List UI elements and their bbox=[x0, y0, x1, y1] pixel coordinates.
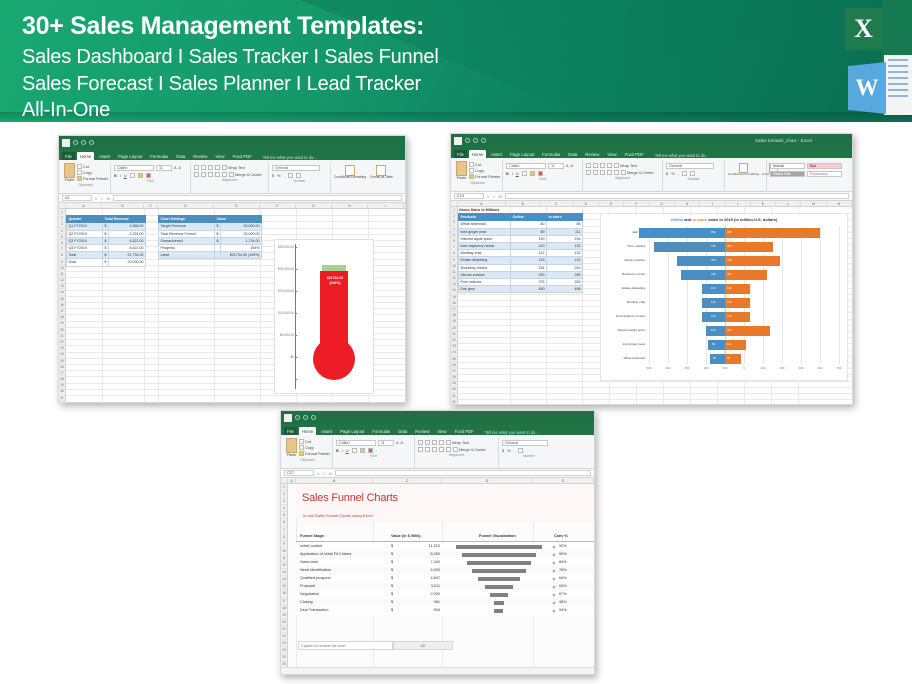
align-center-icon[interactable] bbox=[593, 170, 598, 175]
table-row[interactable]: Estate darjeeling 123 132 bbox=[459, 257, 583, 264]
table-row[interactable]: Application of Initial Fit Criteria $ 8,… bbox=[296, 551, 594, 559]
tab-insert[interactable]: Insert bbox=[488, 150, 505, 158]
paste-icon[interactable] bbox=[456, 161, 467, 176]
cell-value[interactable]: 6,522.00 bbox=[109, 237, 146, 244]
cell-stage[interactable]: Closing bbox=[300, 600, 313, 604]
paste-label[interactable]: Paste bbox=[287, 453, 297, 457]
rows-area-2[interactable]: 1 2 3 4 5 6 7 8 9 10 11 12 13 14 15 16 1 bbox=[451, 207, 852, 405]
fill-color-icon[interactable] bbox=[530, 171, 535, 176]
save-icon[interactable] bbox=[62, 139, 70, 147]
cell-setting[interactable]: Progress bbox=[159, 245, 215, 252]
wrap-text-button[interactable]: Wrap Text bbox=[222, 165, 245, 170]
table-row[interactable]: Q4 FY2019 $ 8,422.00 bbox=[67, 245, 146, 252]
cell-product[interactable]: Bombay chai bbox=[459, 250, 511, 257]
cell-value[interactable]: 4,847 bbox=[404, 576, 440, 580]
cell-value[interactable]: 4,566.00 bbox=[109, 223, 146, 230]
cell-style-check-cell[interactable]: Check Cell bbox=[770, 171, 805, 177]
sheet-tab-bar-3[interactable] bbox=[281, 667, 594, 674]
ribbon-1[interactable]: Paste Cut Copy Format Painter Clipboard … bbox=[59, 160, 405, 194]
tab-foxit-pdf[interactable]: Foxit PDF bbox=[622, 150, 647, 158]
col-G[interactable]: G bbox=[650, 201, 675, 206]
underline-button[interactable]: U bbox=[516, 172, 519, 176]
align-right-icon[interactable] bbox=[432, 447, 437, 452]
font-name-select[interactable]: Calibri bbox=[114, 165, 154, 171]
paste-label[interactable]: Paste bbox=[65, 178, 75, 182]
table-row[interactable]: Need identification $ 6,200 78% bbox=[296, 567, 594, 575]
table-row[interactable]: Bombay chai 122 132 bbox=[459, 250, 583, 257]
tab-data[interactable]: Data bbox=[395, 427, 410, 435]
cell-product[interactable]: Earl grey bbox=[459, 286, 511, 293]
cell-product[interactable]: White ambrosia bbox=[459, 221, 511, 228]
table-row[interactable]: African solstice 250 290 bbox=[459, 271, 583, 278]
cell-online[interactable]: 100 bbox=[511, 235, 547, 242]
tab-formulas[interactable]: Formulas bbox=[147, 152, 171, 160]
col-A[interactable]: A bbox=[66, 203, 102, 208]
cell-currency[interactable]: $ bbox=[391, 608, 393, 612]
cell-style-normal[interactable]: Normal bbox=[770, 163, 805, 169]
cells-1[interactable]: Quarter Total Revenue Q1 FY2019 $ 4,566.… bbox=[66, 209, 405, 403]
cell-currency[interactable]: $ bbox=[391, 560, 393, 564]
cell-value[interactable]: 109% bbox=[221, 245, 262, 252]
format-painter-button[interactable]: Format Painter bbox=[77, 176, 108, 181]
merge-center-button[interactable]: Merge & Center bbox=[229, 172, 262, 177]
cell-instore[interactable]: 111 bbox=[547, 228, 583, 235]
col-M[interactable]: M bbox=[801, 201, 826, 206]
formula-input-1[interactable] bbox=[113, 195, 402, 201]
formula-bar-row-3[interactable]: C27 × ✓ fx bbox=[281, 469, 594, 478]
decrease-indent-icon[interactable] bbox=[215, 172, 220, 177]
row-headers-1[interactable]: 1 2 3 4 5 6 7 8 9 10 11 12 13 14 15 16 1 bbox=[59, 209, 66, 403]
rows-area-1[interactable]: 1 2 3 4 5 6 7 8 9 10 11 12 13 14 15 16 1 bbox=[59, 209, 405, 403]
table-row[interactable]: Q3 FY2019 $ 6,522.00 bbox=[67, 237, 146, 244]
insert-function-icon[interactable]: fx bbox=[107, 196, 110, 201]
formula-bar-row-2[interactable]: C13 × ✓ fx bbox=[451, 192, 852, 201]
name-box-1[interactable]: A1 bbox=[62, 195, 92, 201]
increase-indent-icon[interactable] bbox=[222, 172, 227, 177]
table-row[interactable]: Iced raspberry nectar 120 130 bbox=[459, 243, 583, 250]
table-row[interactable]: Q2 FY2019 $ 2,224.00 bbox=[67, 230, 146, 237]
cell-stage[interactable]: Sales lead bbox=[300, 560, 318, 564]
tab-file[interactable]: File bbox=[284, 427, 297, 435]
copy-button[interactable]: Copy bbox=[469, 168, 500, 173]
paste-icon[interactable] bbox=[286, 438, 297, 453]
col-L[interactable]: L bbox=[776, 201, 801, 206]
ribbon-tabs-1[interactable]: File Home Insert Page Layout Formulas Da… bbox=[59, 149, 405, 160]
number-format-select[interactable]: General bbox=[666, 163, 714, 169]
underline-button[interactable]: U bbox=[346, 449, 349, 453]
cell-stage[interactable]: Application of Initial Fit Criteria bbox=[300, 552, 351, 556]
decrease-font-icon[interactable]: A bbox=[179, 166, 182, 170]
table-row[interactable]: Progress 109% bbox=[159, 245, 262, 252]
col-A[interactable]: A bbox=[288, 478, 296, 483]
cell-value[interactable]: $21734.00 (109%) bbox=[221, 252, 262, 259]
table-row[interactable]: Negotiation $ 2,020 67% bbox=[296, 591, 594, 599]
quick-access-toolbar-3[interactable] bbox=[281, 414, 316, 422]
bold-button[interactable]: B bbox=[114, 174, 117, 178]
tab-view[interactable]: View bbox=[434, 427, 449, 435]
cell-online[interactable]: 450 bbox=[511, 286, 547, 293]
currency-format-icon[interactable]: $ bbox=[272, 174, 274, 178]
confirm-icon[interactable]: ✓ bbox=[322, 471, 325, 476]
cell-online[interactable]: 80 bbox=[511, 221, 547, 228]
cell-instore[interactable]: 498 bbox=[547, 286, 583, 293]
percent-format-icon[interactable]: % bbox=[277, 174, 280, 178]
tab-page-layout[interactable]: Page Layout bbox=[115, 152, 145, 160]
cell-stage[interactable]: Proposal bbox=[300, 584, 315, 588]
tab-view[interactable]: View bbox=[212, 152, 227, 160]
ribbon-3[interactable]: Paste Cut Copy Format Painter Clipboard … bbox=[281, 435, 594, 469]
cell-setting[interactable]: Total Revenue Formul bbox=[159, 230, 215, 237]
font-size-select[interactable]: 11 bbox=[548, 163, 564, 169]
table-row[interactable]: Blueberry merlot 234 220 bbox=[459, 264, 583, 271]
italic-button[interactable]: I bbox=[512, 172, 513, 176]
table-row[interactable]: Harvest apple spice 100 234 bbox=[459, 235, 583, 242]
percent-format-icon[interactable]: % bbox=[507, 449, 510, 453]
align-bottom-icon[interactable] bbox=[208, 165, 213, 170]
tab-foxit-pdf[interactable]: Foxit PDF bbox=[452, 427, 477, 435]
cell-product[interactable]: Iced raspberry nectar bbox=[459, 243, 511, 250]
cell-currency[interactable]: $ bbox=[391, 552, 393, 556]
comma-format-icon[interactable]: , bbox=[284, 174, 285, 178]
table-row[interactable]: White ambrosia 80 85 bbox=[459, 221, 583, 228]
cell-currency[interactable]: $ bbox=[391, 600, 393, 604]
ribbon-2[interactable]: Paste Cut Copy Format Painter Clipboard … bbox=[451, 158, 852, 192]
table-row[interactable]: Closing $ 961 48% bbox=[296, 599, 594, 607]
col-N[interactable]: N bbox=[827, 201, 852, 206]
font-color-icon[interactable] bbox=[538, 171, 543, 176]
formula-input-3[interactable] bbox=[335, 470, 591, 476]
align-top-icon[interactable] bbox=[586, 163, 591, 168]
name-box-2[interactable]: C13 bbox=[454, 193, 484, 199]
cells-3[interactable]: Sales Funnel Charts In-cell Sales Funnel… bbox=[288, 484, 594, 675]
table-row[interactable]: Deal Transaction $ 904 94% bbox=[296, 607, 594, 615]
col-I[interactable]: I bbox=[368, 203, 404, 208]
cell-value[interactable]: 21,734.00 bbox=[109, 252, 146, 259]
cell-instore[interactable]: 85 bbox=[547, 221, 583, 228]
chart-caption-input[interactable]: Caption to rename the chart bbox=[298, 641, 393, 650]
cancel-icon[interactable]: × bbox=[487, 194, 489, 199]
cell-instore[interactable]: 234 bbox=[547, 235, 583, 242]
cell-instore[interactable]: 132 bbox=[547, 250, 583, 257]
align-center-icon[interactable] bbox=[201, 172, 206, 177]
excel-window-funnel[interactable]: File Home Insert Page Layout Formulas Da… bbox=[280, 410, 595, 675]
increase-indent-icon[interactable] bbox=[614, 170, 619, 175]
cell-instore[interactable]: 130 bbox=[547, 243, 583, 250]
cell-instore[interactable]: 290 bbox=[547, 271, 583, 278]
borders-icon[interactable] bbox=[522, 171, 527, 176]
conditional-formatting-label[interactable]: Conditional Formatting bbox=[334, 176, 366, 179]
align-middle-icon[interactable] bbox=[425, 440, 430, 445]
col-E[interactable]: E bbox=[214, 203, 260, 208]
cell-value[interactable]: 2,224.00 bbox=[109, 230, 146, 237]
merge-center-button[interactable]: Merge & Center bbox=[453, 447, 486, 452]
excel-window-tornado[interactable]: Sales tornado_chart - Excel File Home In… bbox=[450, 133, 853, 405]
table-row[interactable]: Overachieved $ 1,734.00 bbox=[159, 237, 262, 244]
currency-format-icon[interactable]: $ bbox=[666, 172, 668, 176]
cell-product[interactable]: African solstice bbox=[459, 271, 511, 278]
paste-icon[interactable] bbox=[64, 163, 75, 178]
col-F[interactable]: F bbox=[260, 203, 296, 208]
tab-home[interactable]: Home bbox=[77, 152, 94, 160]
col-B[interactable]: B bbox=[296, 478, 373, 483]
number-format-select[interactable]: General bbox=[502, 440, 548, 446]
col-C[interactable]: C bbox=[144, 203, 158, 208]
align-bottom-icon[interactable] bbox=[432, 440, 437, 445]
col-B[interactable]: B bbox=[102, 203, 144, 208]
increase-decimal-icon[interactable] bbox=[518, 448, 523, 453]
cell-instore[interactable]: 220 bbox=[547, 264, 583, 271]
fill-color-icon[interactable] bbox=[138, 173, 143, 178]
cell-online[interactable]: 234 bbox=[511, 264, 547, 271]
cell-product[interactable]: Harvest apple spice bbox=[459, 235, 511, 242]
wrap-text-button[interactable]: Wrap Text bbox=[446, 440, 469, 445]
table-row[interactable]: Label $21734.00 (109%) bbox=[159, 252, 262, 259]
rows-area-3[interactable]: 1 2 3 4 5 6 7 8 9 10 11 12 13 14 15 16 1 bbox=[281, 484, 594, 675]
decrease-indent-icon[interactable] bbox=[439, 447, 444, 452]
col-A[interactable]: A bbox=[458, 201, 507, 206]
thermometer-chart[interactable]: $25,000.00 $20,000.00 $15,000.00 $10,000… bbox=[274, 239, 374, 394]
increase-decimal-icon[interactable] bbox=[288, 173, 293, 178]
cell-value[interactable]: 7,400 bbox=[404, 560, 440, 564]
font-size-select[interactable]: 11 bbox=[156, 165, 172, 171]
bold-button[interactable]: B bbox=[506, 172, 509, 176]
funnel-rows[interactable]: Initial contact $ 11,210 92% Application… bbox=[296, 543, 594, 615]
align-middle-icon[interactable] bbox=[593, 163, 598, 168]
formula-bar-row-1[interactable]: A1 × ✓ fx bbox=[59, 194, 405, 203]
cell-currency[interactable]: $ bbox=[391, 592, 393, 596]
redo-icon[interactable] bbox=[81, 140, 86, 145]
cell-stage[interactable]: Qualified prospect bbox=[300, 576, 331, 580]
cell-value[interactable]: 20,000.00 bbox=[221, 223, 262, 230]
col-C[interactable]: C bbox=[540, 201, 574, 206]
cell-currency[interactable]: $ bbox=[391, 568, 393, 572]
italic-button[interactable]: I bbox=[120, 174, 121, 178]
fill-color-icon[interactable] bbox=[360, 448, 365, 453]
cell-value[interactable]: 20,000.00 bbox=[109, 259, 146, 266]
borders-icon[interactable] bbox=[352, 448, 357, 453]
increase-font-icon[interactable]: A bbox=[174, 166, 177, 170]
tab-foxit-pdf[interactable]: Foxit PDF bbox=[230, 152, 255, 160]
conditional-formatting-label[interactable]: Conditional Formatting bbox=[728, 173, 759, 176]
col-H[interactable]: H bbox=[675, 201, 700, 206]
ok-button[interactable]: OK bbox=[393, 641, 453, 650]
underline-button[interactable]: U bbox=[124, 174, 127, 178]
excel-window-thermometer[interactable]: File Home Insert Page Layout Formulas Da… bbox=[58, 135, 406, 403]
col-D[interactable]: D bbox=[442, 478, 533, 483]
ribbon-tabs-2[interactable]: File Home Insert Page Layout Formulas Da… bbox=[451, 147, 852, 158]
comma-format-icon[interactable]: , bbox=[514, 449, 515, 453]
italic-button[interactable]: I bbox=[342, 449, 343, 453]
increase-font-icon[interactable]: A bbox=[566, 164, 569, 168]
font-name-select[interactable]: Calibri bbox=[336, 440, 376, 446]
align-center-icon[interactable] bbox=[425, 447, 430, 452]
cell-value[interactable]: 6,200 bbox=[404, 568, 440, 572]
copy-button[interactable]: Copy bbox=[77, 170, 108, 175]
align-middle-icon[interactable] bbox=[201, 165, 206, 170]
tab-home[interactable]: Home bbox=[469, 150, 486, 158]
cell-stage[interactable]: Initial contact bbox=[300, 544, 322, 548]
cell-conv[interactable]: 63% bbox=[559, 584, 567, 588]
tab-file[interactable]: File bbox=[454, 150, 467, 158]
bold-button[interactable]: B bbox=[336, 449, 339, 453]
cut-button[interactable]: Cut bbox=[299, 439, 330, 444]
increase-indent-icon[interactable] bbox=[446, 447, 451, 452]
tab-page-layout[interactable]: Page Layout bbox=[507, 150, 537, 158]
cut-button[interactable]: Cut bbox=[77, 164, 108, 169]
cell-conv[interactable]: 84% bbox=[559, 560, 567, 564]
cells-2[interactable]: Gross Sales in Millions Products Online … bbox=[458, 207, 852, 405]
customize-qat-icon[interactable] bbox=[311, 415, 316, 420]
tab-review[interactable]: Review bbox=[582, 150, 602, 158]
table-row[interactable]: Earl grey 450 498 bbox=[459, 286, 583, 293]
cell-currency[interactable]: $ bbox=[391, 576, 393, 580]
comma-format-icon[interactable]: , bbox=[678, 172, 679, 176]
cell-quarter[interactable]: Q3 FY2019 bbox=[67, 237, 103, 244]
col-I[interactable]: I bbox=[700, 201, 725, 206]
align-left-icon[interactable] bbox=[418, 447, 423, 452]
table-row[interactable]: Qualified prospect $ 4,847 64% bbox=[296, 575, 594, 583]
col-H[interactable]: H bbox=[332, 203, 368, 208]
cell-product[interactable]: Iced ginger pear bbox=[459, 228, 511, 235]
gross-sales-table[interactable]: Products Online In-store White ambrosia … bbox=[458, 213, 583, 293]
align-right-icon[interactable] bbox=[208, 172, 213, 177]
cell-style-explanatory[interactable]: Explanatory ... bbox=[807, 171, 842, 177]
table-row[interactable]: Target Revenue $ 20,000.00 bbox=[159, 223, 262, 230]
tab-view[interactable]: View bbox=[604, 150, 619, 158]
cell-conv[interactable]: 78% bbox=[559, 568, 567, 572]
table-row[interactable]: Total Revenue Formul $ 20,000.00 bbox=[159, 230, 262, 237]
row-headers-3[interactable]: 1 2 3 4 5 6 7 8 9 10 11 12 13 14 15 16 1 bbox=[281, 484, 288, 675]
cell-product[interactable]: Estate darjeeling bbox=[459, 257, 511, 264]
cell-product[interactable]: Blueberry merlot bbox=[459, 264, 511, 271]
cell-online[interactable]: 89 bbox=[511, 228, 547, 235]
table-row[interactable]: Pure matcha 375 250 bbox=[459, 279, 583, 286]
font-color-icon[interactable] bbox=[368, 448, 373, 453]
table-row[interactable]: Sales lead $ 7,400 84% bbox=[296, 559, 594, 567]
table-row[interactable]: Iced ginger pear 89 111 bbox=[459, 228, 583, 235]
cell-value[interactable]: 20,000.00 bbox=[221, 230, 262, 237]
copy-button[interactable]: Copy bbox=[299, 445, 330, 450]
col-F[interactable]: F bbox=[624, 201, 649, 206]
table-row[interactable]: Initial contact $ 11,210 92% bbox=[296, 543, 594, 551]
insert-function-icon[interactable]: fx bbox=[499, 194, 502, 199]
decrease-decimal-icon[interactable] bbox=[296, 173, 301, 178]
font-name-select[interactable]: Calibri bbox=[506, 163, 546, 169]
decrease-font-icon[interactable]: A bbox=[401, 441, 404, 445]
cell-conv[interactable]: 94% bbox=[559, 608, 567, 612]
cell-conv[interactable]: 64% bbox=[559, 576, 567, 580]
cell-setting[interactable]: Label bbox=[159, 252, 215, 259]
cell-value[interactable]: 8,250 bbox=[404, 552, 440, 556]
cell-conv[interactable]: 48% bbox=[559, 600, 567, 604]
align-bottom-icon[interactable] bbox=[600, 163, 605, 168]
table-row[interactable]: Goal $ 20,000.00 bbox=[67, 259, 146, 266]
cell-value[interactable]: 2,020 bbox=[404, 592, 440, 596]
tornado-chart[interactable]: Online and in-store sales in 2019 (in mi… bbox=[600, 213, 848, 381]
orientation-icon[interactable] bbox=[215, 165, 220, 170]
save-icon[interactable] bbox=[284, 414, 292, 422]
cell-online[interactable]: 375 bbox=[511, 279, 547, 286]
cell-stage[interactable]: Negotiation bbox=[300, 592, 319, 596]
borders-icon[interactable] bbox=[130, 173, 135, 178]
redo-icon[interactable] bbox=[303, 415, 308, 420]
worksheet-grid-2[interactable]: A B C D E F G H I J K L M N 1 2 3 bbox=[451, 201, 852, 405]
confirm-icon[interactable]: ✓ bbox=[492, 194, 495, 199]
formula-input-2[interactable] bbox=[505, 193, 849, 199]
col-E[interactable]: E bbox=[533, 478, 594, 483]
orientation-icon[interactable] bbox=[439, 440, 444, 445]
number-format-select[interactable]: General bbox=[272, 165, 320, 171]
tab-formulas[interactable]: Formulas bbox=[369, 427, 393, 435]
align-right-icon[interactable] bbox=[600, 170, 605, 175]
ribbon-tabs-3[interactable]: File Home Insert Page Layout Formulas Da… bbox=[281, 424, 594, 435]
paste-label[interactable]: Paste bbox=[457, 176, 467, 180]
increase-font-icon[interactable]: A bbox=[396, 441, 399, 445]
tab-insert[interactable]: Insert bbox=[318, 427, 335, 435]
cell-value[interactable]: 904 bbox=[404, 608, 440, 612]
cell-stage[interactable]: Deal Transaction bbox=[300, 608, 329, 612]
cell-currency[interactable]: $ bbox=[391, 544, 393, 548]
cell-quarter[interactable]: Total bbox=[67, 252, 103, 259]
name-box-3[interactable]: C27 bbox=[284, 470, 314, 476]
cell-stage[interactable]: Need identification bbox=[300, 568, 331, 572]
table-row[interactable]: Total $ 21,734.00 bbox=[67, 252, 146, 259]
cell-style-bad[interactable]: Bad bbox=[807, 163, 842, 169]
col-J[interactable]: J bbox=[726, 201, 751, 206]
worksheet-grid-1[interactable]: A B C D E F G H I 1 2 3 4 5 6 7 bbox=[59, 203, 405, 403]
cell-product[interactable]: Pure matcha bbox=[459, 279, 511, 286]
worksheet-grid-3[interactable]: A B C D E 1 2 3 4 5 6 7 8 9 10 11 bbox=[281, 478, 594, 675]
increase-decimal-icon[interactable] bbox=[682, 171, 687, 176]
cell-value[interactable]: 3,211 bbox=[404, 584, 440, 588]
decrease-decimal-icon[interactable] bbox=[690, 171, 695, 176]
cell-setting[interactable]: Target Revenue bbox=[159, 223, 215, 230]
col-C[interactable]: C bbox=[373, 478, 442, 483]
cell-quarter[interactable]: Q2 FY2019 bbox=[67, 230, 103, 237]
row-headers-2[interactable]: 1 2 3 4 5 6 7 8 9 10 11 12 13 14 15 16 1 bbox=[451, 207, 458, 405]
customize-qat-icon[interactable] bbox=[89, 140, 94, 145]
undo-icon[interactable] bbox=[73, 140, 78, 145]
cell-quarter[interactable]: Goal bbox=[67, 259, 103, 266]
format-painter-button[interactable]: Format Painter bbox=[299, 451, 330, 456]
cell-conv[interactable]: 92% bbox=[559, 544, 567, 548]
cell-quarter[interactable]: Q4 FY2019 bbox=[67, 245, 103, 252]
align-left-icon[interactable] bbox=[194, 172, 199, 177]
merge-center-button[interactable]: Merge & Center bbox=[621, 170, 654, 175]
table-row[interactable]: Q1 FY2019 $ 4,566.00 bbox=[67, 223, 146, 230]
align-top-icon[interactable] bbox=[418, 440, 423, 445]
tab-formulas[interactable]: Formulas bbox=[539, 150, 563, 158]
tab-page-layout[interactable]: Page Layout bbox=[337, 427, 367, 435]
decrease-font-icon[interactable]: A bbox=[571, 164, 574, 168]
quick-access-toolbar-1[interactable] bbox=[59, 139, 94, 147]
format-as-table-label[interactable]: Format as Table bbox=[370, 176, 393, 179]
cancel-icon[interactable]: × bbox=[95, 196, 97, 201]
cell-value[interactable]: 1,734.00 bbox=[221, 237, 262, 244]
cell-currency[interactable]: $ bbox=[391, 584, 393, 588]
tab-home[interactable]: Home bbox=[299, 427, 316, 435]
table-row[interactable]: Proposal $ 3,211 63% bbox=[296, 583, 594, 591]
decrease-indent-icon[interactable] bbox=[607, 170, 612, 175]
currency-format-icon[interactable]: $ bbox=[502, 449, 504, 453]
revenue-table[interactable]: Quarter Total Revenue Q1 FY2019 $ 4,566.… bbox=[66, 215, 146, 266]
cell-instore[interactable]: 250 bbox=[547, 279, 583, 286]
tab-review[interactable]: Review bbox=[412, 427, 432, 435]
cell-setting[interactable]: Overachieved bbox=[159, 237, 215, 244]
col-D[interactable]: D bbox=[158, 203, 214, 208]
wrap-text-button[interactable]: Wrap Text bbox=[614, 163, 637, 168]
font-size-select[interactable]: 11 bbox=[378, 440, 394, 446]
